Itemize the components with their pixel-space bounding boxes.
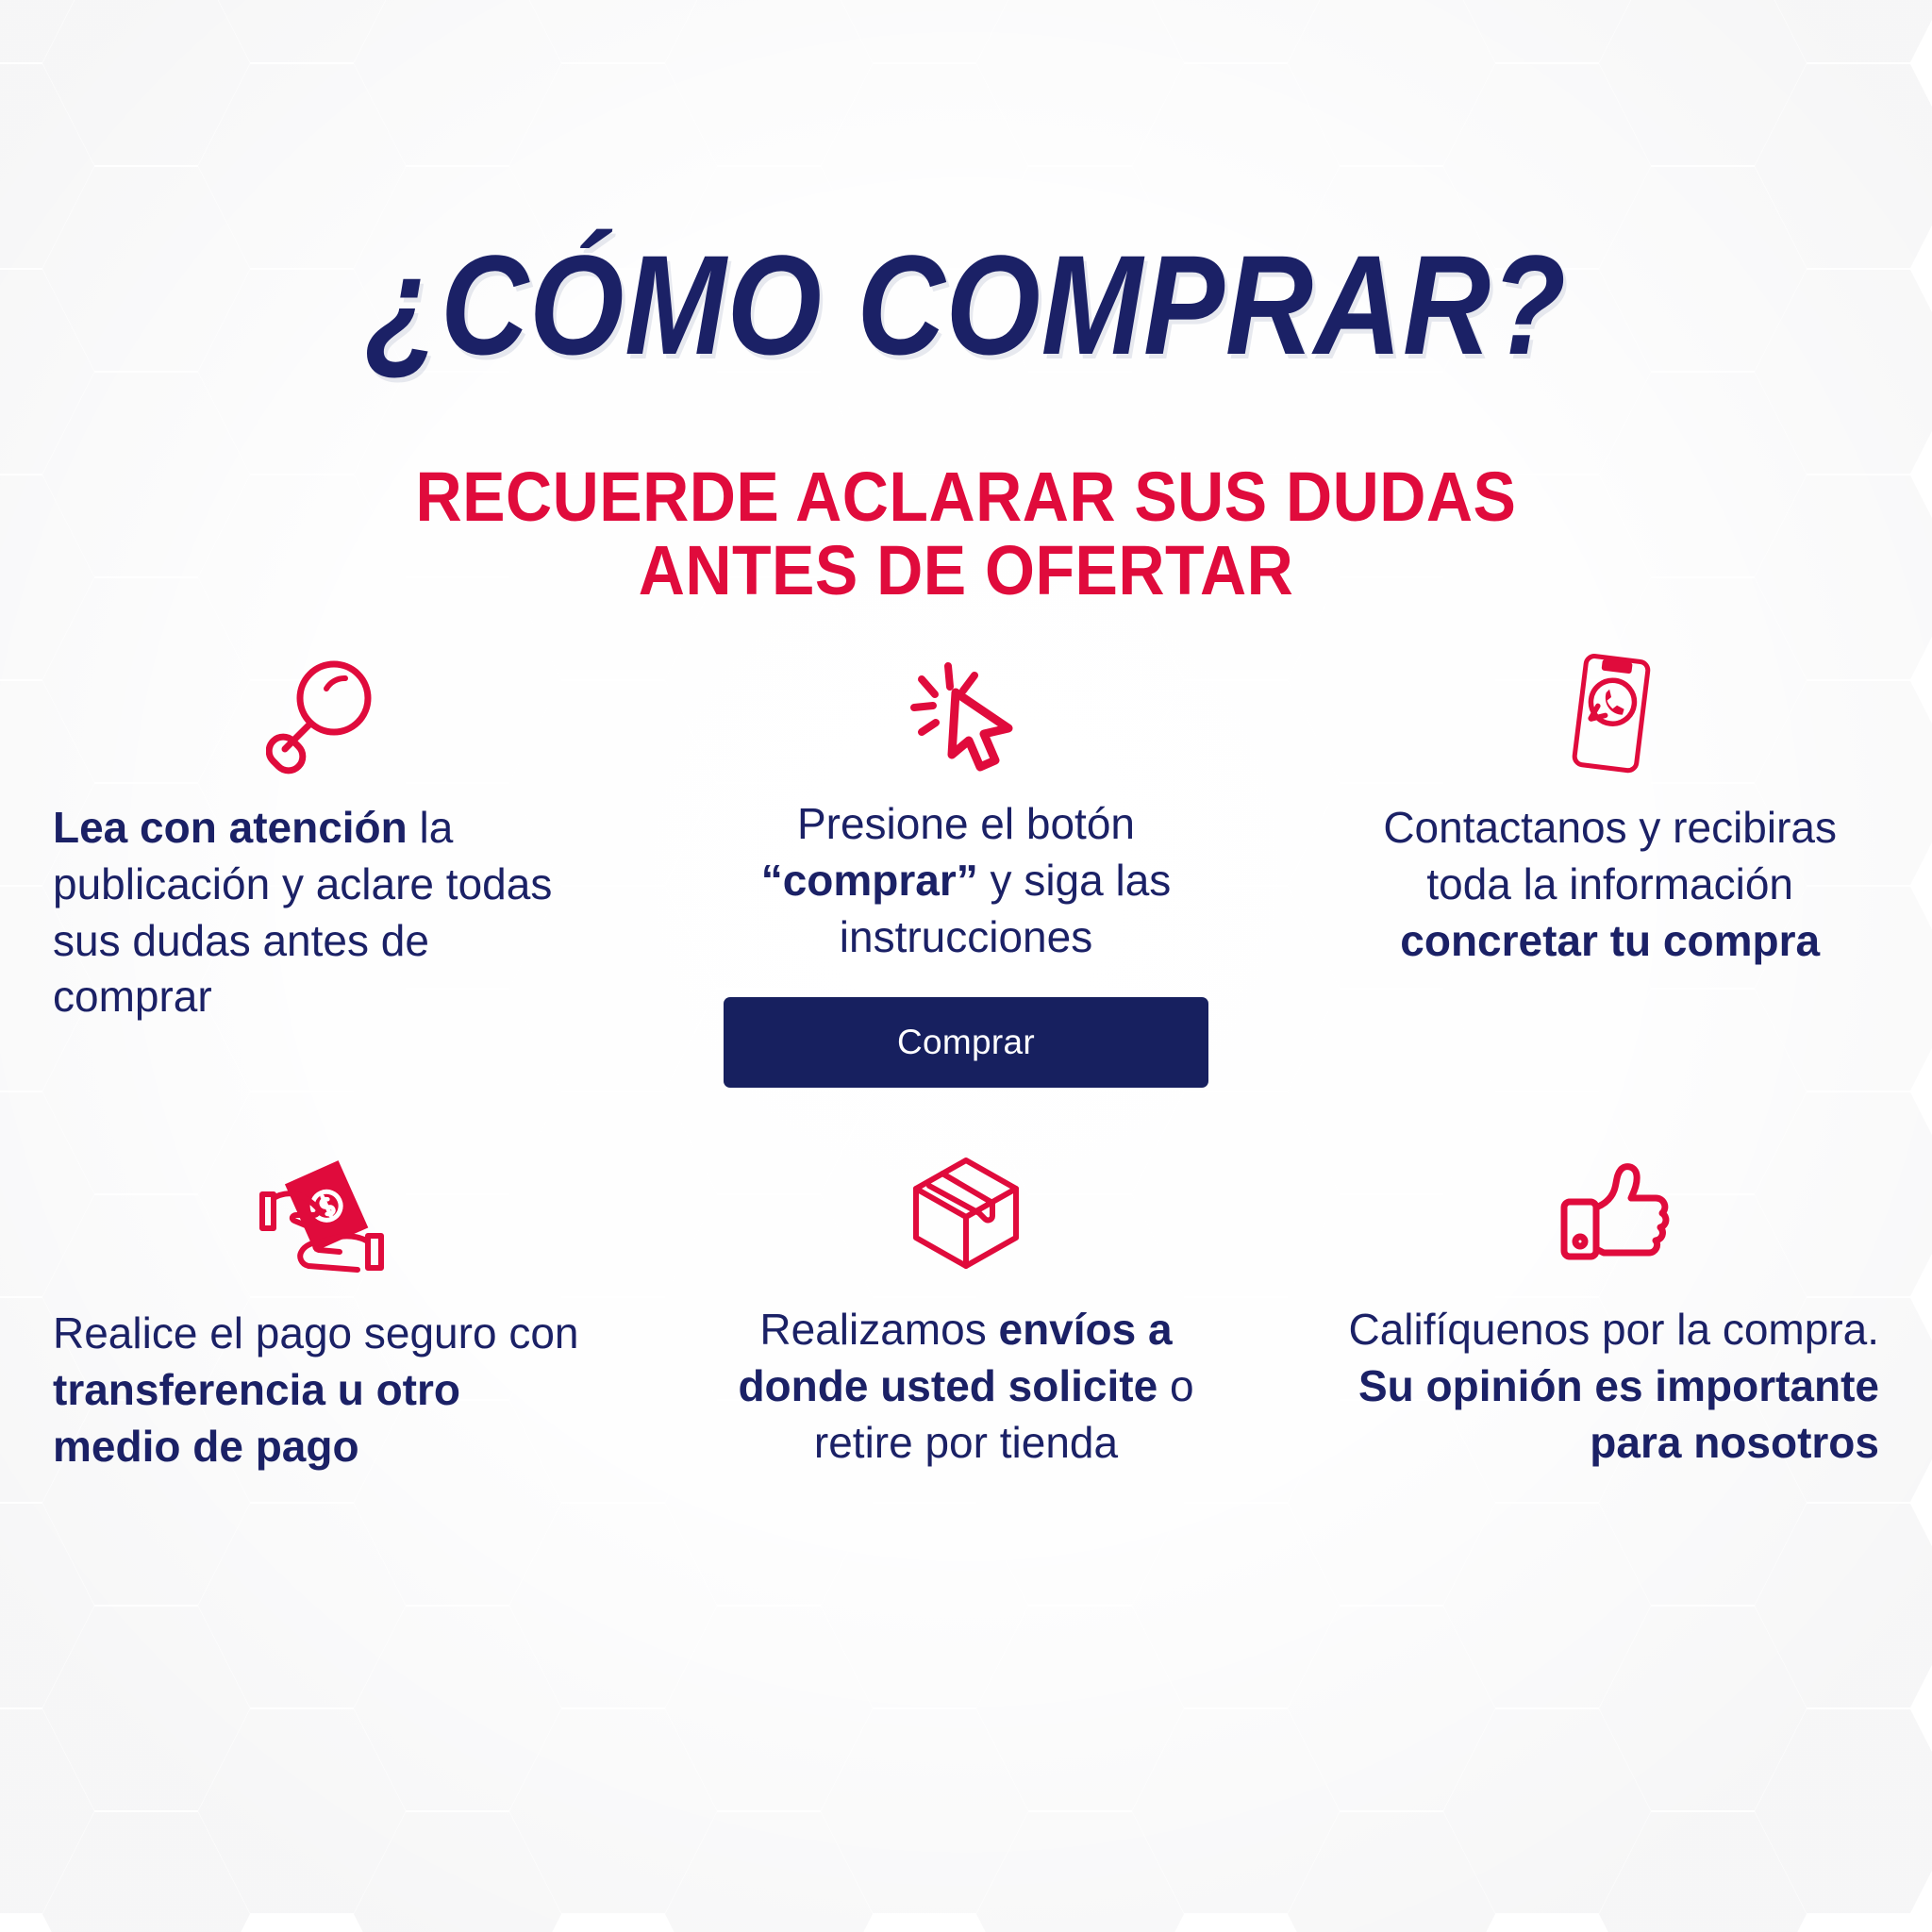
- step-text: Contactanos y recibiras toda la informac…: [1341, 800, 1879, 969]
- step-icon-container: [53, 1132, 591, 1274]
- step-text-normal-1: Realizamos: [759, 1305, 998, 1354]
- step-text-bold: transferencia u otro medio de pago: [53, 1365, 460, 1471]
- steps-grid: Lea con atención la publicación y aclare…: [0, 651, 1932, 1613]
- comprar-button[interactable]: Comprar: [724, 997, 1208, 1088]
- step-icon-container: [53, 651, 591, 775]
- step-text: Realizamos envíos a donde usted solicite…: [697, 1302, 1236, 1471]
- step-icon-container: [1341, 1132, 1879, 1274]
- money-hands-icon: [251, 1151, 392, 1274]
- step-text-bold: Lea con atención: [53, 803, 408, 852]
- step-card-shipping: Realizamos envíos a donde usted solicite…: [644, 1132, 1289, 1613]
- step-text: Lea con atención la publicación y aclare…: [53, 800, 591, 1025]
- step-icon-container: [697, 1132, 1236, 1274]
- package-box-icon: [905, 1149, 1027, 1274]
- thumbs-up-icon: [1549, 1153, 1672, 1274]
- step-text-normal: Realice el pago seguro con: [53, 1308, 578, 1357]
- step-text-bold: “comprar”: [761, 856, 978, 905]
- step-card-secure-payment: Realice el pago seguro con transferencia…: [0, 1132, 644, 1613]
- page-subtitle: RECUERDE ACLARAR SUS DUDAS ANTES DE OFER…: [77, 460, 1855, 608]
- step-text: Realice el pago seguro con transferencia…: [53, 1306, 591, 1474]
- magnifier-icon: [266, 657, 377, 775]
- subtitle-line-2: ANTES DE OFERTAR: [77, 534, 1855, 608]
- step-text-normal: Califíquenos por la compra.: [1348, 1305, 1879, 1354]
- step-card-press-buy: Presione el botón “comprar” y siga las i…: [644, 651, 1289, 1132]
- step-text-bold: Su opinión es importante para nosotros: [1358, 1361, 1879, 1467]
- step-card-rate-us: Califíquenos por la compra. Su opinión e…: [1288, 1132, 1932, 1613]
- step-icon-container: [697, 651, 1236, 775]
- whatsapp-phone-icon: [1557, 651, 1663, 775]
- step-text-bold: concretar tu compra: [1400, 916, 1820, 965]
- step-text-normal: Contactanos y recibiras toda la informac…: [1383, 803, 1837, 908]
- page-title: ¿CÓMO COMPRAR?: [135, 234, 1796, 375]
- step-text: Presione el botón “comprar” y siga las i…: [697, 796, 1236, 965]
- step-text: Califíquenos por la compra. Su opinión e…: [1341, 1302, 1879, 1471]
- subtitle-line-1: RECUERDE ACLARAR SUS DUDAS: [77, 460, 1855, 534]
- click-cursor-icon: [907, 658, 1025, 775]
- step-text-normal-1: Presione el botón: [797, 799, 1135, 848]
- step-icon-container: [1341, 651, 1879, 775]
- step-card-contact-whatsapp: Contactanos y recibiras toda la informac…: [1288, 651, 1932, 1132]
- step-card-read-publication: Lea con atención la publicación y aclare…: [0, 651, 644, 1132]
